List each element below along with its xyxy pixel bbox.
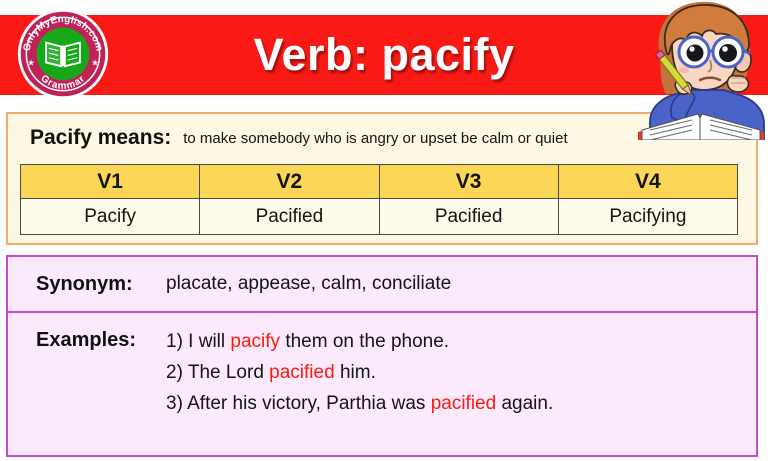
- worksheet-page: Verb: pacify: [0, 0, 768, 461]
- table-header-row: V1 V2 V3 V4: [21, 165, 738, 199]
- site-logo[interactable]: ★ ★ OnlyMyEnglish.com Grammar: [16, 7, 110, 101]
- list-item: 1) I will pacify them on the phone.: [166, 327, 553, 358]
- table-cell-v1: Pacify: [21, 199, 200, 235]
- example-after: him.: [335, 362, 376, 383]
- example-before: The Lord: [183, 362, 269, 383]
- table-row: Pacify Pacified Pacified Pacifying: [21, 199, 738, 235]
- table-header-v2: V2: [200, 165, 379, 199]
- logo-badge-icon: ★ ★ OnlyMyEnglish.com Grammar: [16, 7, 110, 101]
- example-highlight: pacify: [230, 331, 280, 352]
- list-item: 3) After his victory, Parthia was pacifi…: [166, 389, 553, 420]
- verb-forms-table: V1 V2 V3 V4 Pacify Pacified Pacified Pac…: [20, 164, 738, 235]
- example-before: After his victory, Parthia was: [183, 393, 431, 414]
- examples-row: Examples: 1) I will pacify them on the p…: [8, 313, 756, 419]
- synonym-and-examples-panel: Synonym: placate, appease, calm, concili…: [6, 255, 758, 457]
- example-highlight: pacified: [431, 393, 497, 414]
- studying-boy-icon: [632, 0, 768, 140]
- example-number: 1): [166, 331, 183, 352]
- example-before: I will: [183, 331, 231, 352]
- svg-text:★: ★: [91, 57, 99, 67]
- meaning-label: Pacify means:: [30, 126, 171, 150]
- table-header-v4: V4: [558, 165, 737, 199]
- table-header-v1: V1: [21, 165, 200, 199]
- list-item: 2) The Lord pacified him.: [166, 358, 553, 389]
- synonym-row: Synonym: placate, appease, calm, concili…: [8, 257, 756, 313]
- table-cell-v4: Pacifying: [558, 199, 737, 235]
- table-cell-v2: Pacified: [200, 199, 379, 235]
- examples-label: Examples:: [36, 327, 154, 419]
- example-after: them on the phone.: [280, 331, 449, 352]
- example-number: 3): [166, 393, 183, 414]
- table-header-v3: V3: [379, 165, 558, 199]
- header: Verb: pacify: [0, 0, 768, 108]
- example-highlight: pacified: [269, 362, 335, 383]
- svg-text:★: ★: [27, 57, 35, 67]
- example-number: 2): [166, 362, 183, 383]
- examples-list: 1) I will pacify them on the phone. 2) T…: [166, 327, 553, 419]
- synonym-text: placate, appease, calm, conciliate: [166, 273, 451, 295]
- example-after: again.: [496, 393, 553, 414]
- table-cell-v3: Pacified: [379, 199, 558, 235]
- synonym-label: Synonym:: [36, 273, 154, 296]
- meaning-text: to make somebody who is angry or upset b…: [183, 130, 567, 147]
